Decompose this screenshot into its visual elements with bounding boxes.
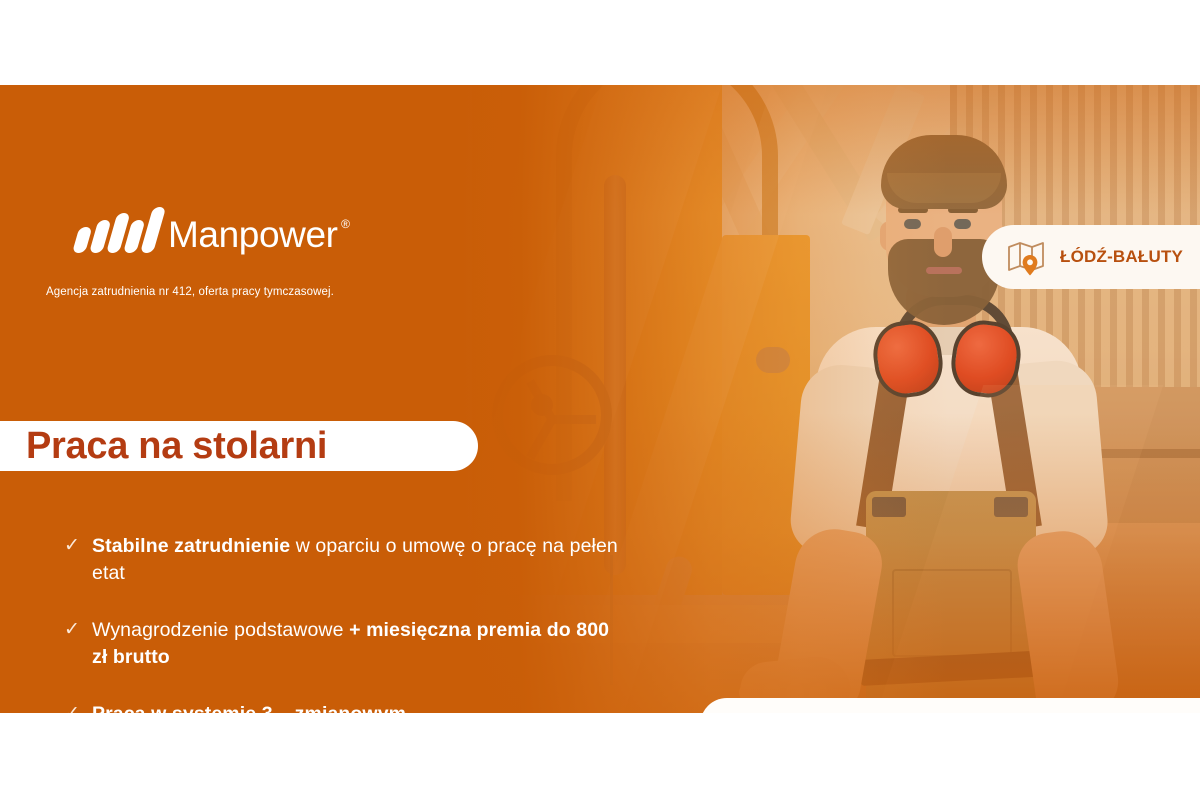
location-label: ŁÓDŹ-BAŁUTY bbox=[1060, 247, 1183, 267]
check-icon: ✓ bbox=[64, 701, 92, 713]
benefit-text: Stabilne zatrudnienie w oparciu o umowę … bbox=[92, 533, 624, 587]
manpower-bars-logo-icon bbox=[72, 207, 154, 253]
manpower-logo: Manpower® bbox=[72, 207, 350, 253]
brand-name: Manpower® bbox=[168, 216, 350, 253]
map-pin-icon bbox=[1006, 237, 1046, 277]
check-icon: ✓ bbox=[64, 617, 92, 643]
contact-pill[interactable]: magdalena.wolska@manpower.pl | 608-482-0… bbox=[700, 698, 1200, 713]
benefit-text: Wynagrodzenie podstawowe + miesięczna pr… bbox=[92, 617, 624, 671]
legal-note: Agencja zatrudnienia nr 412, oferta prac… bbox=[46, 286, 334, 298]
benefit-item: ✓Praca w systemie 3 – zmianowym bbox=[64, 701, 624, 713]
registered-mark: ® bbox=[341, 218, 349, 230]
benefit-item: ✓Stabilne zatrudnienie w oparciu o umowę… bbox=[64, 533, 624, 587]
benefits-list: ✓Stabilne zatrudnienie w oparciu o umowę… bbox=[64, 533, 624, 713]
orange-banner: Manpower® Agencja zatrudnienia nr 412, o… bbox=[0, 85, 1200, 713]
location-badge: ŁÓDŹ-BAŁUTY bbox=[982, 225, 1200, 289]
page-title: Praca na stolarni bbox=[26, 427, 327, 465]
benefit-text: Praca w systemie 3 – zmianowym bbox=[92, 701, 406, 713]
check-icon: ✓ bbox=[64, 533, 92, 559]
poster-canvas: Manpower® Agencja zatrudnienia nr 412, o… bbox=[0, 0, 1200, 800]
benefit-item: ✓Wynagrodzenie podstawowe + miesięczna p… bbox=[64, 617, 624, 671]
brand-name-text: Manpower bbox=[168, 214, 338, 255]
title-pill: Praca na stolarni bbox=[0, 421, 478, 471]
